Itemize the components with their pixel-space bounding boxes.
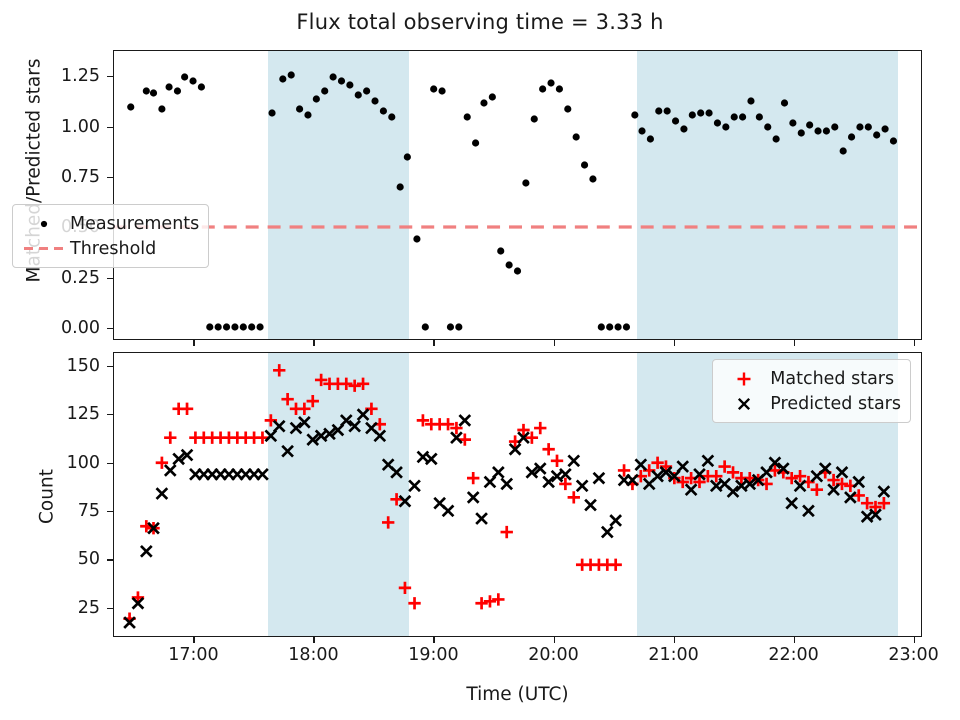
y-tick-label: 50	[0, 549, 100, 569]
data-point	[198, 83, 205, 90]
data-point	[677, 461, 688, 472]
data-point	[273, 364, 285, 376]
data-point	[455, 323, 462, 330]
data-point	[664, 107, 671, 114]
data-point	[298, 403, 310, 415]
bottom-panel-axes: Matched stars Predicted stars	[113, 352, 922, 637]
data-point	[501, 479, 512, 490]
data-point	[789, 119, 796, 126]
data-point	[430, 85, 437, 92]
data-point	[484, 595, 496, 607]
data-point	[459, 415, 470, 426]
y-tick-label: 125	[0, 404, 100, 424]
data-point	[374, 430, 385, 441]
data-point	[240, 323, 247, 330]
data-point	[585, 500, 596, 511]
data-point	[798, 129, 805, 136]
y-tick-mark	[107, 127, 113, 128]
data-point	[497, 247, 504, 254]
data-point	[589, 175, 596, 182]
x-tick-label: 19:00	[408, 645, 458, 665]
x-tick-mark-top	[794, 340, 795, 346]
data-point	[141, 546, 152, 557]
x-tick-mark-top	[554, 340, 555, 346]
data-point	[181, 73, 188, 80]
data-point	[764, 123, 771, 130]
data-point	[672, 117, 679, 124]
data-point	[288, 71, 295, 78]
data-point	[382, 516, 394, 528]
y-tick-mark	[107, 608, 113, 609]
data-point	[181, 403, 193, 415]
data-point	[853, 477, 864, 488]
top-panel-plot	[114, 51, 921, 339]
legend-item-matched-stars: Matched stars	[722, 366, 901, 391]
data-point	[873, 131, 880, 138]
y-tick-mark	[107, 559, 113, 560]
x-tick-mark-bottom	[794, 637, 795, 643]
data-point	[718, 460, 730, 472]
data-point	[609, 559, 621, 571]
legend-item-measurements: Measurements	[22, 211, 199, 236]
y-tick-label: 100	[0, 453, 100, 473]
y-tick-label: 25	[0, 598, 100, 618]
data-point	[840, 147, 847, 154]
data-point	[231, 323, 238, 330]
x-tick-mark-bottom	[914, 637, 915, 643]
data-point	[564, 105, 571, 112]
data-point	[256, 323, 263, 330]
x-axis-label: Time (UTC)	[113, 684, 922, 705]
data-point	[522, 179, 529, 186]
data-point	[248, 323, 255, 330]
data-point	[689, 111, 696, 118]
data-point	[150, 89, 157, 96]
data-point	[338, 77, 345, 84]
data-point	[447, 323, 454, 330]
data-point	[556, 85, 563, 92]
x-tick-label: 22:00	[768, 645, 818, 665]
data-point	[127, 103, 134, 110]
data-point	[539, 85, 546, 92]
data-point	[206, 323, 213, 330]
data-point	[296, 105, 303, 112]
data-point	[756, 113, 763, 120]
data-point	[223, 323, 230, 330]
data-point	[727, 466, 739, 478]
red-plus-icon	[722, 370, 766, 388]
data-point	[346, 81, 353, 88]
data-point	[340, 378, 352, 390]
y-tick-label: 1.25	[0, 66, 100, 86]
data-point	[568, 455, 579, 466]
data-point	[397, 183, 404, 190]
data-point	[814, 127, 821, 134]
y-tick-mark	[107, 463, 113, 464]
data-point	[464, 113, 471, 120]
data-point	[865, 123, 872, 130]
data-point	[845, 492, 856, 503]
data-point	[786, 498, 797, 509]
data-point	[547, 79, 554, 86]
x-tick-label: 21:00	[648, 645, 698, 665]
data-point	[848, 133, 855, 140]
data-point	[638, 127, 645, 134]
legend-label-predicted-stars: Predicted stars	[766, 394, 901, 414]
x-tick-mark-top	[914, 340, 915, 346]
data-point	[174, 87, 181, 94]
legend-label-matched-stars: Matched stars	[766, 369, 894, 389]
data-point	[472, 139, 479, 146]
measurement-dot-icon	[22, 217, 66, 231]
data-point	[680, 125, 687, 132]
data-point	[357, 378, 369, 390]
data-point	[811, 484, 823, 496]
data-point	[610, 515, 621, 526]
x-tick-mark-bottom	[554, 637, 555, 643]
y-tick-mark	[107, 278, 113, 279]
data-point	[492, 593, 504, 605]
data-point	[489, 93, 496, 100]
data-point	[722, 123, 729, 130]
data-point	[878, 486, 889, 497]
data-point	[747, 97, 754, 104]
data-point	[399, 582, 411, 594]
data-point	[623, 323, 630, 330]
data-point	[890, 137, 897, 144]
data-point	[257, 469, 268, 480]
data-point	[647, 135, 654, 142]
series-predicted-stars	[124, 409, 889, 628]
y-tick-mark	[107, 511, 113, 512]
data-point	[577, 480, 588, 491]
data-point	[371, 97, 378, 104]
y-tick-label: 150	[0, 356, 100, 376]
data-point	[408, 597, 420, 609]
data-point	[598, 323, 605, 330]
data-point	[881, 125, 888, 132]
data-point	[705, 109, 712, 116]
data-point	[400, 496, 411, 507]
data-point	[702, 455, 713, 466]
y-tick-mark	[107, 76, 113, 77]
data-point	[413, 235, 420, 242]
data-point	[274, 421, 285, 432]
data-point	[158, 105, 165, 112]
y-tick-label: 0.25	[0, 268, 100, 288]
data-point	[837, 467, 848, 478]
data-point	[157, 488, 168, 499]
data-point	[602, 527, 613, 538]
data-point	[165, 465, 176, 476]
data-point	[348, 380, 360, 392]
data-point	[422, 323, 429, 330]
data-point	[773, 135, 780, 142]
data-point	[823, 127, 830, 134]
x-tick-mark-top	[313, 340, 314, 346]
data-point	[380, 107, 387, 114]
data-point	[355, 91, 362, 98]
data-point	[501, 526, 513, 538]
x-tick-label: 20:00	[528, 645, 578, 665]
data-point	[731, 113, 738, 120]
data-point	[531, 115, 538, 122]
x-tick-mark-top	[433, 340, 434, 346]
data-point	[631, 111, 638, 118]
data-point	[480, 99, 487, 106]
y-tick-label: 1.00	[0, 117, 100, 137]
data-point	[313, 95, 320, 102]
bottom-panel-legend: Matched stars Predicted stars	[712, 359, 911, 423]
data-point	[476, 513, 487, 524]
figure-canvas: Flux total observing time = 3.33 h Match…	[0, 0, 960, 720]
data-point	[268, 109, 275, 116]
data-point	[568, 491, 580, 503]
series-measurements	[127, 71, 897, 330]
data-point	[438, 87, 445, 94]
data-point	[493, 467, 504, 478]
data-point	[165, 83, 172, 90]
data-point	[321, 87, 328, 94]
data-point	[388, 113, 395, 120]
data-point	[404, 153, 411, 160]
black-cross-icon	[722, 395, 766, 413]
data-point	[714, 119, 721, 126]
data-point	[542, 443, 554, 455]
data-point	[655, 107, 662, 114]
top-panel-legend: Measurements Threshold	[12, 204, 209, 268]
y-tick-mark	[107, 328, 113, 329]
x-tick-mark-bottom	[674, 637, 675, 643]
y-tick-mark	[107, 177, 113, 178]
data-point	[856, 123, 863, 130]
y-tick-label: 0.75	[0, 167, 100, 187]
data-point	[409, 480, 420, 491]
data-point	[739, 113, 746, 120]
y-tick-label: 0.00	[0, 318, 100, 338]
x-tick-mark-bottom	[193, 637, 194, 643]
x-tick-label: 18:00	[288, 645, 338, 665]
data-point	[573, 133, 580, 140]
y-tick-mark	[107, 414, 113, 415]
data-point	[164, 432, 176, 444]
data-point	[551, 455, 563, 467]
data-point	[534, 422, 546, 434]
data-point	[781, 99, 788, 106]
data-point	[189, 77, 196, 84]
top-panel-axes	[113, 50, 922, 340]
data-point	[697, 109, 704, 116]
y-tick-label: 75	[0, 501, 100, 521]
x-tick-mark-bottom	[433, 637, 434, 643]
y-tick-mark	[107, 366, 113, 367]
data-point	[581, 161, 588, 168]
data-point	[426, 454, 437, 465]
data-point	[468, 492, 479, 503]
data-point	[307, 395, 319, 407]
data-point	[215, 323, 222, 330]
data-point	[281, 393, 293, 405]
x-tick-mark-top	[674, 340, 675, 346]
x-tick-mark-bottom	[313, 637, 314, 643]
x-tick-label: 17:00	[168, 645, 218, 665]
data-point	[467, 472, 479, 484]
data-point	[330, 73, 337, 80]
data-point	[803, 506, 814, 517]
data-point	[635, 459, 646, 470]
data-point	[831, 123, 838, 130]
page-title: Flux total observing time = 3.33 h	[0, 10, 960, 34]
data-point	[358, 409, 369, 420]
legend-label-measurements: Measurements	[66, 214, 199, 234]
data-point	[594, 473, 605, 484]
data-point	[143, 87, 150, 94]
x-tick-label: 23:00	[888, 645, 938, 665]
data-point	[806, 121, 813, 128]
data-point	[506, 261, 513, 268]
data-point	[614, 323, 621, 330]
legend-item-predicted-stars: Predicted stars	[722, 391, 901, 416]
data-point	[514, 267, 521, 274]
data-point	[363, 87, 370, 94]
data-point	[475, 597, 487, 609]
data-point	[282, 446, 293, 457]
data-point	[279, 75, 286, 82]
legend-item-threshold: Threshold	[22, 236, 199, 261]
x-tick-mark-top	[193, 340, 194, 346]
data-point	[606, 323, 613, 330]
dashed-line-icon	[22, 247, 66, 250]
legend-label-threshold: Threshold	[66, 239, 156, 259]
data-point	[443, 506, 454, 517]
data-point	[304, 111, 311, 118]
data-point	[686, 484, 697, 495]
data-point	[391, 467, 402, 478]
